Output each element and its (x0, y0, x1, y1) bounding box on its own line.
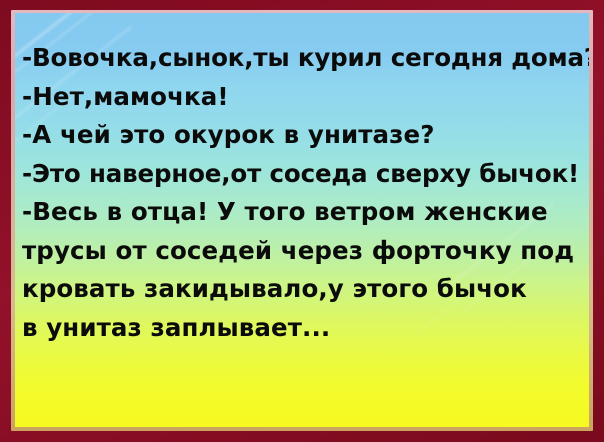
poster-image: -Вовочка,сынок,ты курил сегодня дома? -Н… (0, 0, 604, 442)
joke-line: кровать закидывало,у этого бычок (22, 270, 585, 309)
joke-line: в унитаз заплывает... (22, 309, 585, 348)
joke-line: трусы от соседей через форточку под (22, 232, 585, 271)
joke-line: -Вовочка,сынок,ты курил сегодня дома? (22, 39, 585, 78)
joke-line: -Это наверное,от соседа сверху бычок! (22, 155, 585, 194)
joke-line: -Нет,мамочка! (22, 78, 585, 117)
joke-text-block: -Вовочка,сынок,ты курил сегодня дома? -Н… (22, 39, 585, 347)
poster-content-panel: -Вовочка,сынок,ты курил сегодня дома? -Н… (15, 13, 589, 427)
joke-line: -Весь в отца! У того ветром женские (22, 193, 585, 232)
joke-line: -А чей это окурок в унитазе? (22, 116, 585, 155)
